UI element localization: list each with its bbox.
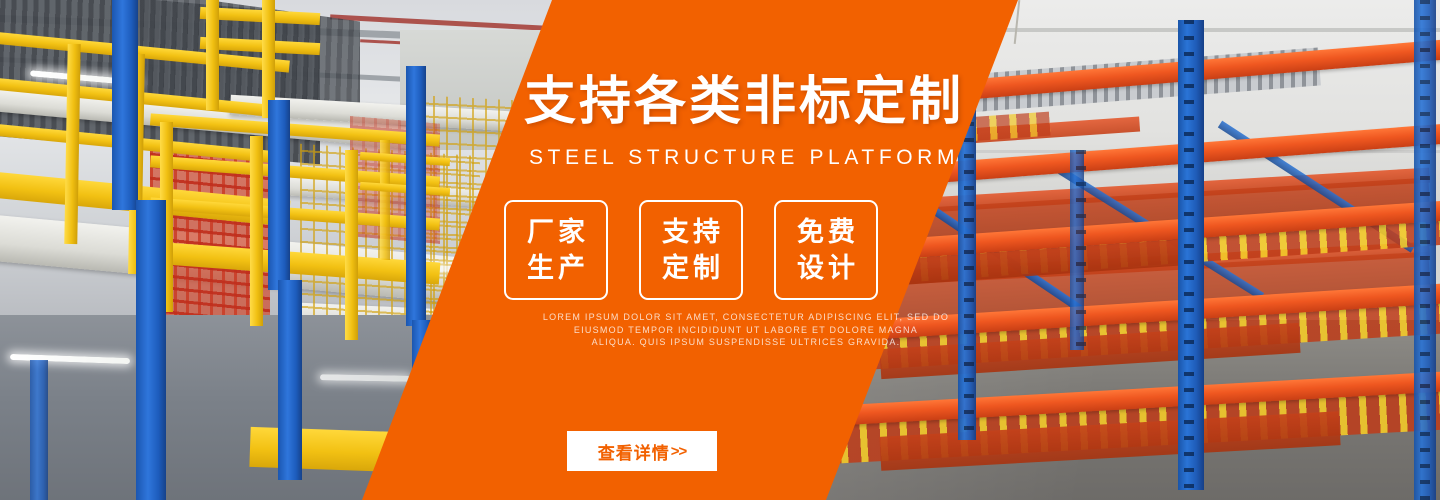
view-details-label: 查看详情	[598, 439, 670, 464]
page-title: 支持各类非标定制	[0, 70, 1440, 134]
feature-badge-manufacturer[interactable]: 厂家 生产	[504, 200, 608, 300]
view-details-button[interactable]: 查看详情>>	[567, 431, 717, 471]
feature-badge-line1: 支持	[658, 214, 724, 250]
description-line-2: EIUSMOD TEMPOR INCIDIDUNT UT LABORE ET D…	[52, 324, 1440, 337]
feature-badge-line2: 设计	[793, 250, 859, 286]
feature-badge-free-design[interactable]: 免费 设计	[774, 200, 878, 300]
promo-banner: 支持各类非标定制 STEEL STRUCTURE PLATFORM 厂家 生产 …	[0, 0, 1440, 500]
feature-badge-row: 厂家 生产 支持 定制 免费 设计	[504, 200, 878, 300]
feature-badge-customization[interactable]: 支持 定制	[639, 200, 743, 300]
chevron-right-icon: >>	[671, 443, 687, 460]
description-line-3: ALIQUA. QUIS IPSUM SUSPENDISSE ULTRICES …	[52, 336, 1440, 349]
feature-badge-line1: 免费	[793, 214, 859, 250]
subtitle: STEEL STRUCTURE PLATFORM	[0, 146, 1440, 170]
steel-column	[136, 200, 166, 500]
description-text: LOREM IPSUM DOLOR SIT AMET, CONSECTETUR …	[0, 311, 1440, 349]
feature-badge-line2: 定制	[658, 250, 724, 286]
steel-column	[30, 360, 48, 500]
description-line-1: LOREM IPSUM DOLOR SIT AMET, CONSECTETUR …	[52, 311, 1440, 324]
feature-badge-line1: 厂家	[523, 214, 589, 250]
steel-column	[278, 280, 302, 480]
feature-badge-line2: 生产	[523, 250, 589, 286]
